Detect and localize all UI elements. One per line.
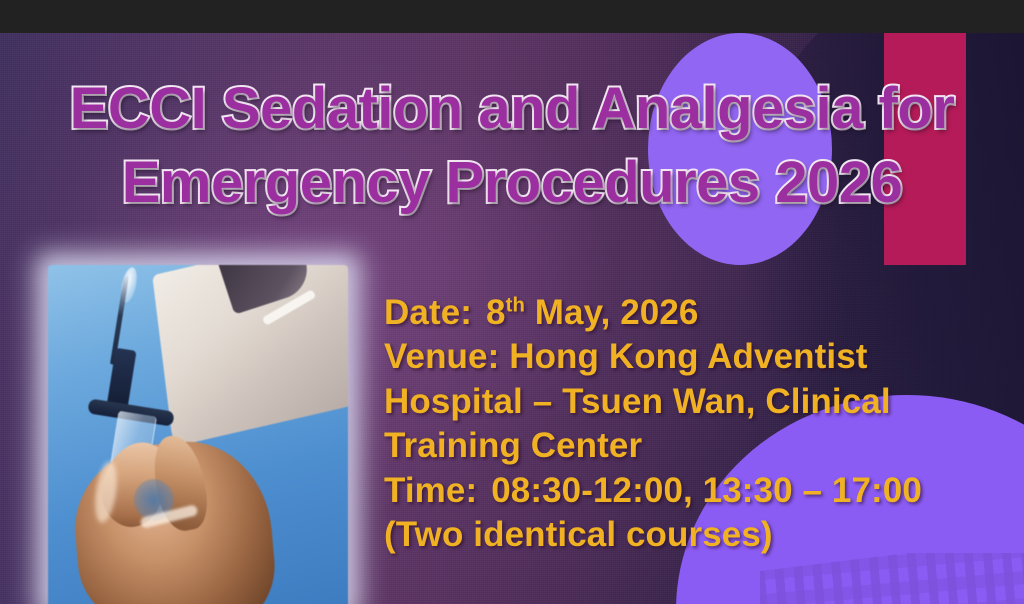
detail-note-line: (Two identical courses) bbox=[384, 513, 984, 557]
date-day-suffix: th bbox=[506, 294, 525, 316]
venue-label: Venue: bbox=[384, 337, 499, 376]
date-day: 8 bbox=[486, 293, 506, 332]
time-value: 08:30-12:00, 13:30 – 17:00 bbox=[491, 471, 922, 510]
venue-text-1: Hong Kong Adventist bbox=[509, 337, 867, 376]
detail-venue-line-3: Training Center bbox=[384, 424, 984, 468]
photo-frame bbox=[48, 265, 348, 604]
poster-title: ECCI Sedation and Analgesia for Emergenc… bbox=[0, 81, 1024, 210]
title-line-2: Emergency Procedures 2026 bbox=[0, 155, 1024, 211]
time-label: Time: bbox=[384, 471, 477, 510]
detail-venue-line-2: Hospital – Tsuen Wan, Clinical bbox=[384, 380, 984, 424]
ghosted-building-windows bbox=[760, 553, 1024, 604]
ghosted-building-image bbox=[760, 553, 1024, 604]
title-line-1: ECCI Sedation and Analgesia for bbox=[0, 81, 1024, 137]
event-details: Date:8th May, 2026 Venue: Hong Kong Adve… bbox=[384, 291, 984, 558]
date-month-year: May, 2026 bbox=[535, 293, 699, 332]
detail-date-line: Date:8th May, 2026 bbox=[384, 291, 984, 335]
presentation-slide: ECCI Sedation and Analgesia for Emergenc… bbox=[0, 0, 1024, 604]
detail-time-line: Time:08:30-12:00, 13:30 – 17:00 bbox=[384, 469, 984, 513]
top-dark-bar bbox=[0, 0, 1024, 33]
detail-venue-line-1: Venue: Hong Kong Adventist bbox=[384, 335, 984, 379]
slide-canvas: ECCI Sedation and Analgesia for Emergenc… bbox=[0, 33, 1024, 604]
date-label: Date: bbox=[384, 293, 472, 332]
syringe-photo bbox=[48, 265, 348, 604]
